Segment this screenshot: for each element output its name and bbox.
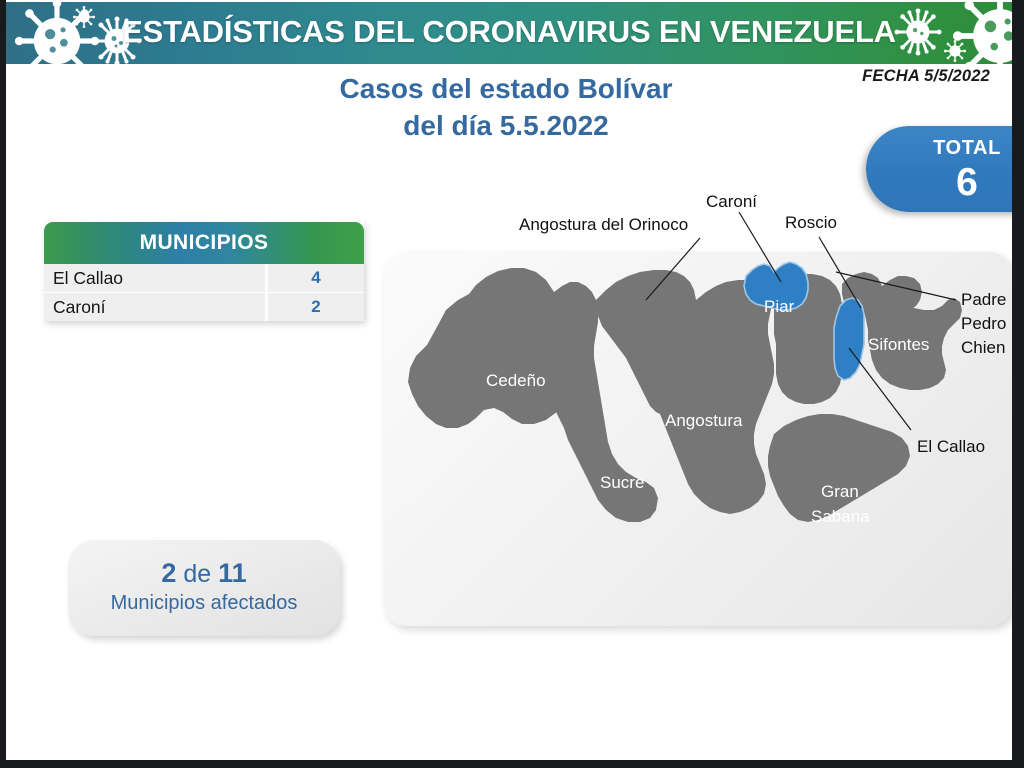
map-callout-caroni: Caroní (706, 192, 757, 211)
frame-bottom-border (0, 760, 1024, 768)
total-value: 6 (912, 160, 1012, 205)
slide-canvas: ESTADÍSTICAS DEL CORONAVIRUS EN VENEZUEL… (6, 0, 1012, 760)
municipios-table: MUNICIPIOS El Callao 4 Caroní 2 (44, 222, 364, 321)
total-badge: TOTAL 6 (866, 126, 1012, 212)
municipio-name: El Callao (44, 264, 268, 292)
page-title: ESTADÍSTICAS DEL CORONAVIRUS EN VENEZUEL… (6, 2, 1012, 64)
slide-title-line2: del día 5.5.2022 (186, 107, 826, 144)
date-stamp: FECHA 5/5/2022 (862, 67, 990, 86)
affected-municipalities-card: 2 de 11 Municipios afectados (68, 540, 340, 636)
affected-connector: de (183, 560, 211, 588)
header-banner: ESTADÍSTICAS DEL CORONAVIRUS EN VENEZUEL… (6, 2, 1012, 64)
municipio-count: 2 (268, 293, 364, 321)
municipio-name: Caroní (44, 293, 268, 321)
affected-count: 2 (161, 558, 176, 588)
affected-ratio: 2 de 11 (68, 558, 340, 589)
municipio-count: 4 (268, 264, 364, 292)
slide-title-line1: Casos del estado Bolívar (339, 73, 672, 104)
map-callout-roscio: Roscio (785, 213, 837, 232)
slide-title: Casos del estado Bolívar del día 5.5.202… (186, 70, 826, 144)
total-label: TOTAL (912, 137, 1012, 160)
table-row: Caroní 2 (44, 293, 364, 321)
frame-right-border (1012, 0, 1024, 768)
affected-caption: Municipios afectados (68, 589, 340, 617)
table-row: El Callao 4 (44, 264, 364, 293)
municipios-table-header: MUNICIPIOS (44, 222, 364, 264)
map-panel (384, 252, 1012, 626)
frame-left-border (0, 0, 6, 768)
map-callout-angostura-del-orinoco: Angostura del Orinoco (519, 215, 688, 234)
affected-total: 11 (218, 558, 247, 588)
